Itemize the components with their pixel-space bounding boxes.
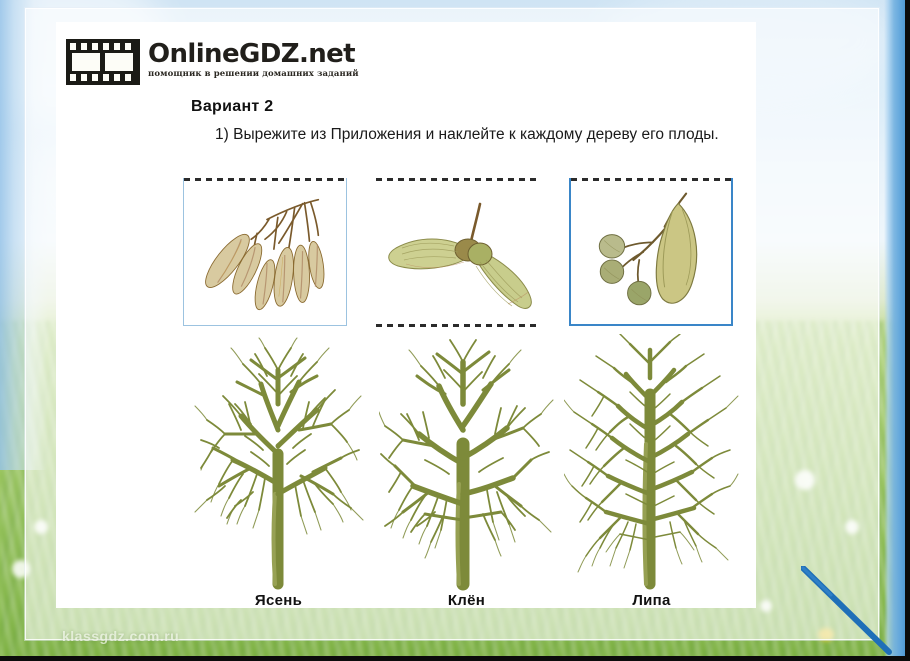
tree-label-ash: Ясень: [191, 592, 366, 609]
tree-maple[interactable]: [379, 334, 554, 592]
document-panel: OnlineGDZ.net помощник в решении домашни…: [56, 22, 756, 608]
task-number: 1): [215, 126, 229, 143]
tree-ash[interactable]: [191, 334, 366, 592]
task-body: Вырежите из Приложения и наклейте к кажд…: [233, 126, 719, 143]
blue-diagonal-pointer: [801, 566, 897, 658]
ash-samaras-illustration: [184, 178, 346, 324]
fruit-box-linden[interactable]: [569, 178, 733, 326]
bare-maple-tree-illustration: [379, 334, 554, 592]
flower-blob: [845, 520, 859, 534]
slide-right-edge: [905, 0, 910, 661]
variant-heading: Вариант 2: [191, 98, 274, 116]
bare-ash-tree-illustration: [191, 334, 366, 592]
flower-blob: [760, 600, 772, 612]
maple-samara-illustration: [376, 178, 540, 326]
task-paragraph: 1) Вырежите из Приложения и наклейте к к…: [189, 123, 734, 146]
fruit-boxes-row: [183, 178, 733, 326]
slide-canvas: OnlineGDZ.net помощник в решении домашни…: [0, 0, 910, 661]
bare-linden-tree-illustration: [564, 334, 739, 592]
linden-fruit-illustration: [571, 178, 731, 322]
tree-labels-row: Ясень Клён Липа: [183, 592, 743, 616]
fruit-box-maple[interactable]: [376, 178, 540, 326]
logo-text-block: OnlineGDZ.net помощник в решении домашни…: [148, 39, 359, 80]
site-watermark: klassgdz.com.ru: [62, 628, 179, 644]
site-logo[interactable]: OnlineGDZ.net помощник в решении домашни…: [66, 39, 359, 85]
trees-row: [183, 334, 743, 594]
tree-label-maple: Клён: [379, 592, 554, 609]
flower-blob-yellow: [818, 628, 834, 641]
slide-bottom-edge: [0, 656, 910, 661]
flower-blob: [34, 520, 48, 534]
left-blue-edge: [0, 0, 48, 470]
filmstrip-icon: [66, 39, 140, 85]
logo-title: OnlineGDZ.net: [148, 40, 359, 68]
flower-blob: [795, 470, 815, 490]
logo-subtitle: помощник в решении домашних заданий: [148, 69, 359, 80]
flower-blob: [12, 560, 30, 578]
tree-label-linden: Липа: [564, 592, 739, 609]
tree-linden[interactable]: [564, 334, 739, 592]
fruit-box-ash[interactable]: [183, 178, 347, 326]
